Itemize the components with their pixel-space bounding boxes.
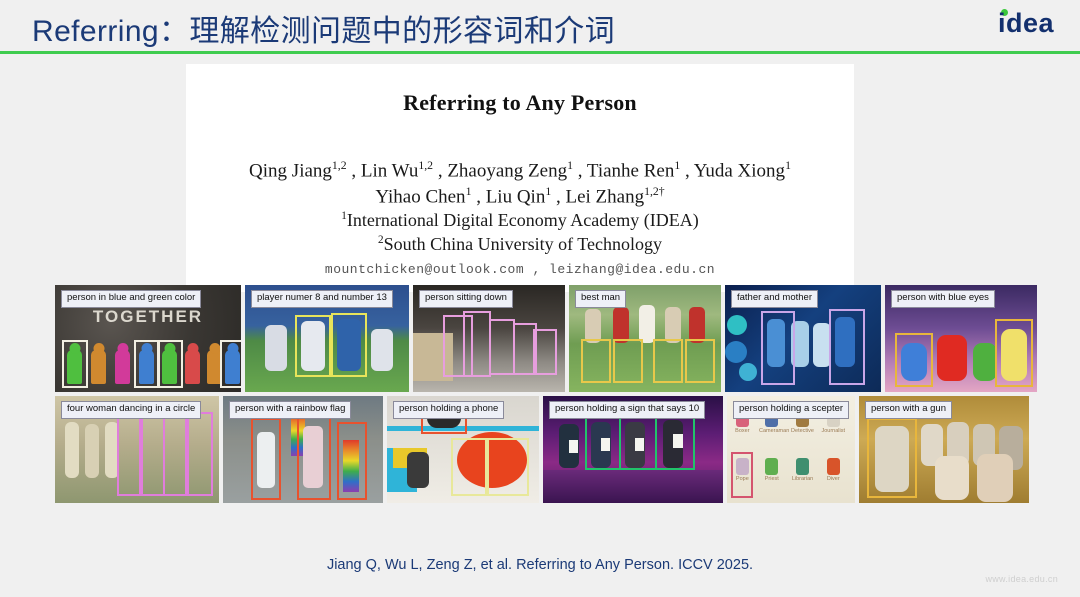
paper-authors-line-2: Yihao Chen1 , Liu Qin1 , Lei Zhang1,2† — [186, 185, 854, 208]
role-label: Journalist — [820, 428, 846, 434]
figure-label: person holding a sign that says 10 — [549, 401, 705, 419]
figure-cell-person-with-blue-eyes: person with blue eyes — [885, 285, 1037, 392]
header-divider — [0, 51, 1080, 54]
figure-label: person with a gun — [865, 401, 952, 419]
figure-grid-row-1: TOGETHER person in blue and green color — [55, 285, 1025, 392]
figure-label: person holding a phone — [393, 401, 504, 419]
figure-cell-person-holding-a-phone: person holding a phone — [387, 396, 539, 503]
role-label: Cameraman — [759, 428, 785, 434]
page-title: Referring：理解检测问题中的形容词和介词 — [32, 6, 615, 50]
figure-cell-player-numer-8-and-number-13: player numer 8 and number 13 — [245, 285, 409, 392]
figure-cell-person-holding-a-sign-that-says-10: person holding a sign that says 10 — [543, 396, 723, 503]
figure-label: person sitting down — [419, 290, 513, 308]
chalk-word: TOGETHER — [93, 307, 203, 327]
figure-label: four woman dancing in a circle — [61, 401, 201, 419]
figure-cell-person-holding-a-scepter: Boxer Cameraman Detective Journalist Pop… — [727, 396, 855, 503]
figure-cell-person-in-blue-and-green-color: TOGETHER person in blue and green color — [55, 285, 241, 392]
role-label: Librarian — [790, 476, 816, 482]
figure-grid-row-2: four woman dancing in a circle person wi… — [55, 396, 1025, 503]
paper-title: Referring to Any Person — [186, 90, 854, 116]
figure-label: player numer 8 and number 13 — [251, 290, 393, 308]
idea-logo: idea — [998, 10, 1054, 37]
paper-emails: mountchicken@outlook.com , leizhang@idea… — [186, 262, 854, 277]
figure-label: person in blue and green color — [61, 290, 201, 308]
citation-text: Jiang Q, Wu L, Zeng Z, et al. Referring … — [0, 557, 1080, 573]
role-label: Boxer — [730, 428, 756, 434]
figure-cell-person-sitting-down: person sitting down — [413, 285, 565, 392]
figure-label: father and mother — [731, 290, 818, 308]
slide-header: Referring：理解检测问题中的形容词和介词 idea — [0, 0, 1080, 51]
paper-preview-panel: Referring to Any Person Qing Jiang1,2 , … — [186, 64, 854, 292]
role-label: Detective — [790, 428, 816, 434]
figure-label: best man — [575, 290, 626, 308]
figure-label: person holding a scepter — [733, 401, 849, 419]
figure-label: person with a rainbow flag — [229, 401, 351, 419]
figure-grid: TOGETHER person in blue and green color — [55, 285, 1025, 503]
figure-cell-four-woman-dancing-in-a-circle: four woman dancing in a circle — [55, 396, 219, 503]
figure-cell-best-man: best man — [569, 285, 721, 392]
figure-cell-father-and-mother: father and mother — [725, 285, 881, 392]
paper-affiliation-2: 2South China University of Technology — [186, 234, 854, 255]
role-label: Diver — [820, 476, 846, 482]
watermark: www.idea.edu.cn — [985, 574, 1058, 584]
figure-label: person with blue eyes — [891, 290, 995, 308]
figure-cell-person-with-a-rainbow-flag: person with a rainbow flag — [223, 396, 383, 503]
paper-affiliation-1: 1International Digital Economy Academy (… — [186, 210, 854, 231]
figure-cell-person-with-a-gun: person with a gun — [859, 396, 1029, 503]
role-label: Priest — [759, 476, 785, 482]
paper-authors-line-1: Qing Jiang1,2 , Lin Wu1,2 , Zhaoyang Zen… — [186, 159, 854, 182]
